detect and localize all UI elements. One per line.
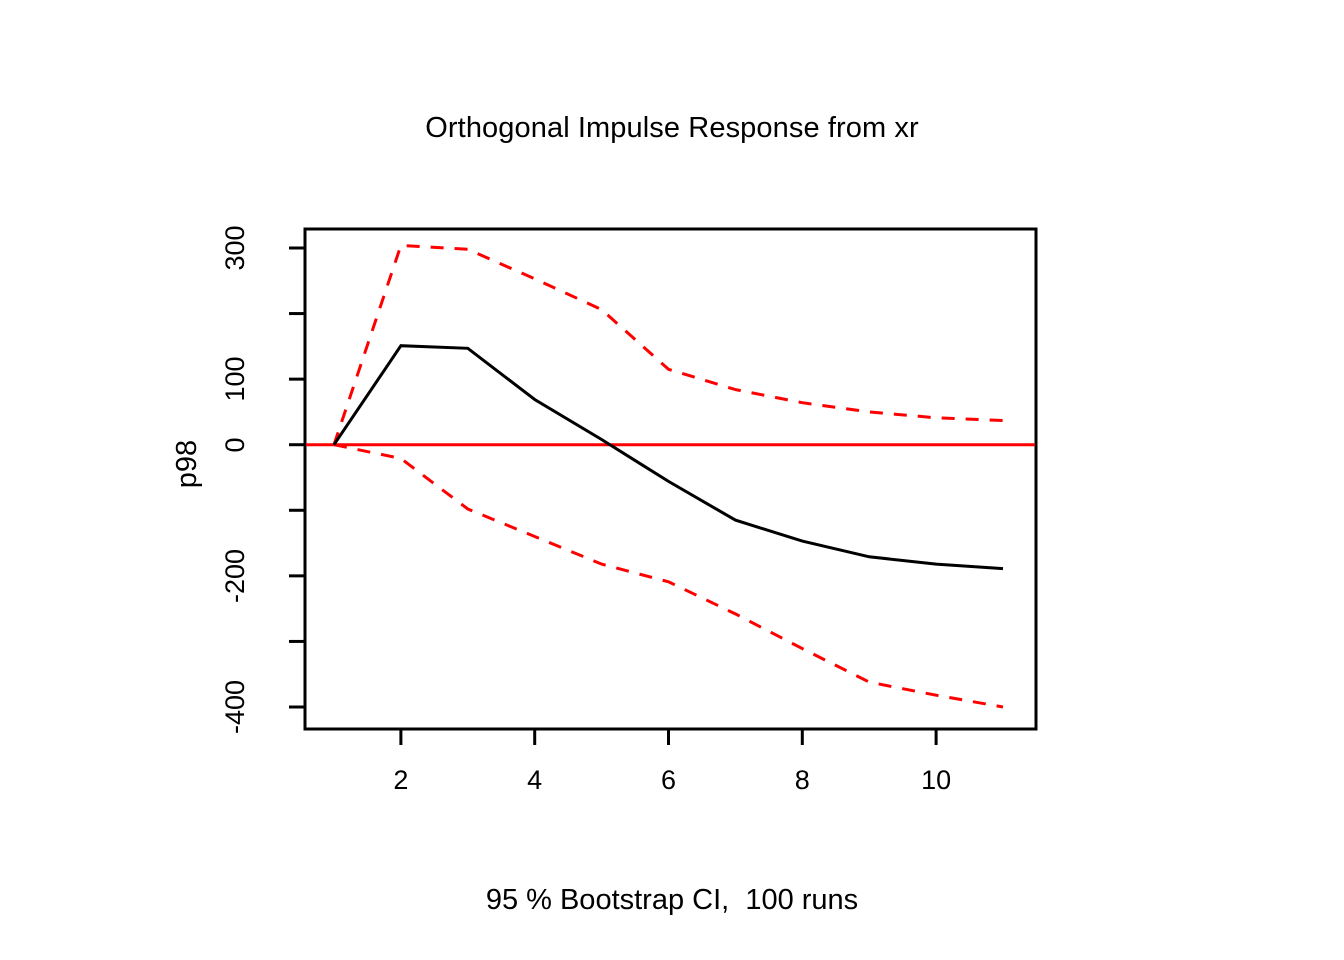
lower-ci-line [334,445,1003,707]
y-tick-label-0: 0 [218,400,252,490]
y-tick-label-300: 300 [218,203,252,293]
x-tick-label-4: 4 [485,765,585,796]
x-tick-label-2: 2 [351,765,451,796]
y-tick-label--200: -200 [218,531,252,621]
plot-frame [305,229,1036,729]
x-tick-label-6: 6 [619,765,719,796]
x-tick-label-10: 10 [886,765,986,796]
x-axis-ticks [401,729,936,745]
y-tick-label--400: -400 [218,662,252,752]
impulse-response-plot: Orthogonal Impulse Response from xr p98 … [0,0,1344,960]
plot-canvas [0,0,1344,960]
impulse-response-line [334,346,1003,569]
y-axis-ticks [289,248,305,707]
chart-caption: 95 % Bootstrap CI, 100 runs [0,884,1344,917]
x-tick-label-8: 8 [752,765,852,796]
upper-ci-line [334,245,1003,444]
